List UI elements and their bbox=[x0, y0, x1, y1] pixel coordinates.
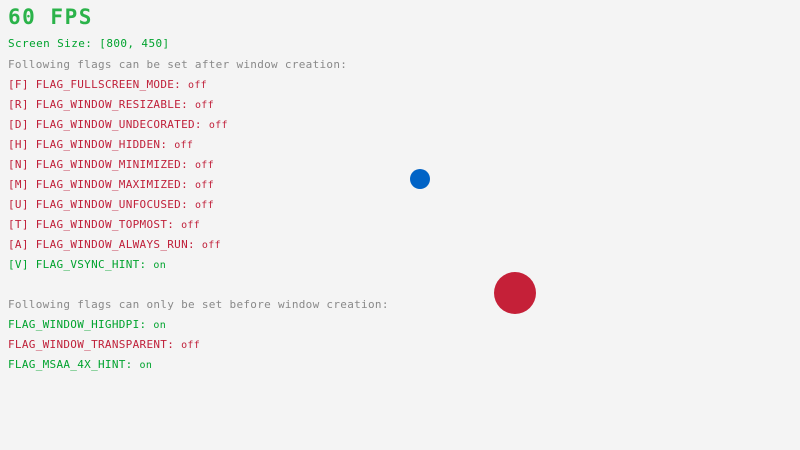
flag-value: off bbox=[202, 240, 221, 251]
flag-line[interactable]: [A] FLAG_WINDOW_ALWAYS_RUN: off bbox=[8, 239, 221, 251]
flag-line[interactable]: [H] FLAG_WINDOW_HIDDEN: off bbox=[8, 139, 193, 151]
flag-name: FLAG_FULLSCREEN_MODE: bbox=[36, 78, 181, 91]
flag-line[interactable]: [N] FLAG_WINDOW_MINIMIZED: off bbox=[8, 159, 214, 171]
flag-name: FLAG_WINDOW_RESIZABLE: bbox=[36, 98, 188, 111]
fps-counter: 60 FPS bbox=[8, 7, 93, 28]
flag-hotkey: [T] bbox=[8, 218, 29, 231]
flag-name: FLAG_WINDOW_TRANSPARENT: bbox=[8, 338, 174, 351]
flag-line[interactable]: [M] FLAG_WINDOW_MAXIMIZED: off bbox=[8, 179, 214, 191]
screen-size-label: Screen Size: [800, 450] bbox=[8, 38, 170, 49]
flag-hotkey: [U] bbox=[8, 198, 29, 211]
flag-value: off bbox=[195, 180, 214, 191]
flag-line: FLAG_WINDOW_HIGHDPI: on bbox=[8, 319, 166, 331]
flag-value: off bbox=[181, 340, 200, 351]
flag-line[interactable]: [R] FLAG_WINDOW_RESIZABLE: off bbox=[8, 99, 214, 111]
flag-name: FLAG_MSAA_4X_HINT: bbox=[8, 358, 133, 371]
section-heading-after-creation: Following flags can be set after window … bbox=[8, 59, 347, 70]
flag-name: FLAG_WINDOW_MAXIMIZED: bbox=[36, 178, 188, 191]
flag-value: on bbox=[153, 260, 166, 271]
flag-name: FLAG_WINDOW_UNFOCUSED: bbox=[36, 198, 188, 211]
flag-value: off bbox=[188, 80, 207, 91]
flag-value: off bbox=[195, 160, 214, 171]
flag-name: FLAG_WINDOW_HIGHDPI: bbox=[8, 318, 146, 331]
flag-name: FLAG_WINDOW_HIDDEN: bbox=[36, 138, 168, 151]
flag-line[interactable]: [T] FLAG_WINDOW_TOPMOST: off bbox=[8, 219, 200, 231]
flag-hotkey: [A] bbox=[8, 238, 29, 251]
flag-hotkey: [N] bbox=[8, 158, 29, 171]
flag-value: off bbox=[209, 120, 228, 131]
text-layer: 60 FPS Screen Size: [800, 450] Following… bbox=[0, 0, 800, 450]
flag-line: FLAG_WINDOW_TRANSPARENT: off bbox=[8, 339, 200, 351]
flag-name: FLAG_WINDOW_UNDECORATED: bbox=[36, 118, 202, 131]
flag-hotkey: [R] bbox=[8, 98, 29, 111]
flag-hotkey: [D] bbox=[8, 118, 29, 131]
flag-value: on bbox=[153, 320, 166, 331]
flag-name: FLAG_WINDOW_MINIMIZED: bbox=[36, 158, 188, 171]
flag-name: FLAG_WINDOW_ALWAYS_RUN: bbox=[36, 238, 195, 251]
section-heading-before-creation: Following flags can only be set before w… bbox=[8, 299, 389, 310]
flag-name: FLAG_WINDOW_TOPMOST: bbox=[36, 218, 174, 231]
flag-name: FLAG_VSYNC_HINT: bbox=[36, 258, 147, 271]
flag-line[interactable]: [U] FLAG_WINDOW_UNFOCUSED: off bbox=[8, 199, 214, 211]
flag-value: off bbox=[195, 200, 214, 211]
flag-line[interactable]: [F] FLAG_FULLSCREEN_MODE: off bbox=[8, 79, 207, 91]
flag-line: FLAG_MSAA_4X_HINT: on bbox=[8, 359, 152, 371]
flag-value: off bbox=[174, 140, 193, 151]
flag-hotkey: [M] bbox=[8, 178, 29, 191]
raylib-window-flags-demo: 60 FPS Screen Size: [800, 450] Following… bbox=[0, 0, 800, 450]
flag-line[interactable]: [D] FLAG_WINDOW_UNDECORATED: off bbox=[8, 119, 228, 131]
flag-hotkey: [V] bbox=[8, 258, 29, 271]
flag-value: off bbox=[195, 100, 214, 111]
flag-value: off bbox=[181, 220, 200, 231]
flag-hotkey: [F] bbox=[8, 78, 29, 91]
flag-hotkey: [H] bbox=[8, 138, 29, 151]
flag-line[interactable]: [V] FLAG_VSYNC_HINT: on bbox=[8, 259, 166, 271]
flag-value: on bbox=[140, 360, 153, 371]
